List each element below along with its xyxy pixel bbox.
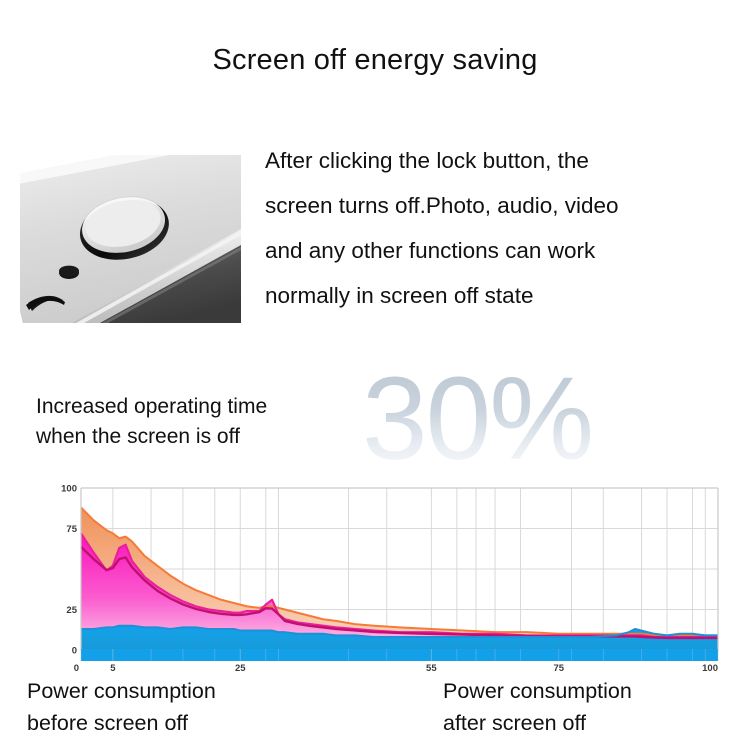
caption-after-screen-off: Power consumption after screen off: [443, 675, 632, 739]
x-axis-tick-label: 25: [235, 663, 246, 672]
x-axis-tick-label: 0: [74, 663, 79, 672]
caption-before-screen-off: Power consumption before screen off: [27, 675, 216, 739]
product-photo-illustration: [20, 155, 241, 323]
product-photo: [20, 155, 241, 323]
percentage-watermark: 30%: [362, 360, 592, 478]
photo-content: [20, 155, 241, 323]
x-axis-tick-label: 5: [110, 663, 116, 672]
description-paragraph: After clicking the lock button, the scre…: [265, 138, 735, 318]
caption-after-line-1: Power consumption: [443, 675, 632, 707]
x-axis-tick-label: 100: [702, 663, 718, 672]
camera-hole-inner: [59, 266, 79, 277]
y-axis-tick-label: 25: [66, 605, 77, 616]
chart-heading: Increased operating time when the screen…: [36, 392, 267, 452]
chart-heading-line-2: when the screen is off: [36, 422, 267, 452]
x-axis-tick-label: 55: [426, 663, 437, 672]
power-consumption-chart: 02575100 05255575100: [55, 482, 720, 672]
y-axis-tick-label: 75: [66, 524, 77, 535]
y-axis-tick-label: 0: [72, 646, 77, 657]
description-line-1: After clicking the lock button, the: [265, 138, 735, 183]
chart-heading-line-1: Increased operating time: [36, 392, 267, 422]
chart-svg: 02575100 05255575100: [55, 482, 720, 672]
chart-x-axis-labels: 05255575100: [74, 663, 718, 672]
description-line-3: and any other functions can work: [265, 228, 735, 273]
description-line-4: normally in screen off state: [265, 273, 735, 318]
chart-y-axis-labels: 02575100: [61, 484, 78, 657]
caption-before-line-1: Power consumption: [27, 675, 216, 707]
y-axis-tick-label: 100: [61, 484, 77, 495]
caption-after-line-2: after screen off: [443, 707, 632, 739]
x-axis-band: [81, 649, 718, 661]
page-title: Screen off energy saving: [0, 44, 750, 77]
x-axis-tick-label: 75: [553, 663, 564, 672]
description-line-2: screen turns off.Photo, audio, video: [265, 183, 735, 228]
caption-before-line-2: before screen off: [27, 707, 216, 739]
